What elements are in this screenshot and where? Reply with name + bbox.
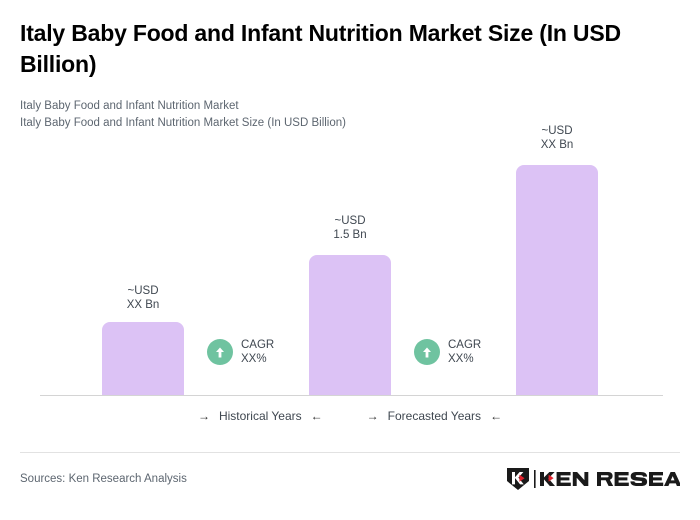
footer-divider: [20, 452, 680, 453]
ken-research-logo-mark: [504, 467, 680, 491]
arrow-up-icon: [414, 339, 440, 365]
bar-forecasted[interactable]: [516, 165, 598, 395]
period-historical-years-label: Historical Years: [219, 409, 302, 423]
bar-label-current-line2: 1.5 Bn: [309, 228, 391, 242]
arrow-right-icon: →: [367, 410, 379, 422]
bar-label-forecasted-line1: ~USD: [516, 124, 598, 138]
cagr-value-2: XX%: [448, 352, 481, 366]
bar-label-historical: ~USD XX Bn: [102, 284, 184, 312]
bar-label-current-line1: ~USD: [309, 214, 391, 228]
arrow-right-icon: →: [198, 410, 210, 422]
arrow-left-icon: ←: [311, 410, 323, 422]
cagr-label-2: CAGR: [448, 338, 481, 352]
cagr-label-1: CAGR: [241, 338, 274, 352]
bar-label-forecasted: ~USD XX Bn: [516, 124, 598, 152]
arrow-up-icon: [207, 339, 233, 365]
bar-historical[interactable]: [102, 322, 184, 395]
ken-research-logo: [504, 467, 680, 491]
cagr-text-current-to-forecasted: CAGR XX%: [448, 338, 481, 366]
arrow-left-icon: ←: [490, 410, 502, 422]
bar-label-historical-line1: ~USD: [102, 284, 184, 298]
cagr-text-historical-to-current: CAGR XX%: [241, 338, 274, 366]
plot-area: ~USD XX Bn ~USD 1.5 Bn ~USD XX Bn CAGR X…: [0, 0, 700, 400]
bar-label-current: ~USD 1.5 Bn: [309, 214, 391, 242]
footer: Sources: Ken Research Analysis: [20, 464, 680, 494]
period-historical-years: → Historical Years ←: [198, 409, 323, 423]
bar-label-forecasted-line2: XX Bn: [516, 138, 598, 152]
cagr-value-1: XX%: [241, 352, 274, 366]
bar-current[interactable]: [309, 255, 391, 395]
chart-card: Italy Baby Food and Infant Nutrition Mar…: [0, 0, 700, 520]
cagr-badge-current-to-forecasted[interactable]: CAGR XX%: [414, 338, 481, 366]
axis-baseline: [40, 395, 663, 396]
period-legend: → Historical Years ← → Forecasted Years …: [0, 409, 700, 423]
period-forecasted-years: → Forecasted Years ←: [367, 409, 502, 423]
sources-text: Sources: Ken Research Analysis: [20, 473, 187, 485]
period-forecasted-years-label: Forecasted Years: [388, 409, 481, 423]
cagr-badge-historical-to-current[interactable]: CAGR XX%: [207, 338, 274, 366]
bar-label-historical-line2: XX Bn: [102, 298, 184, 312]
